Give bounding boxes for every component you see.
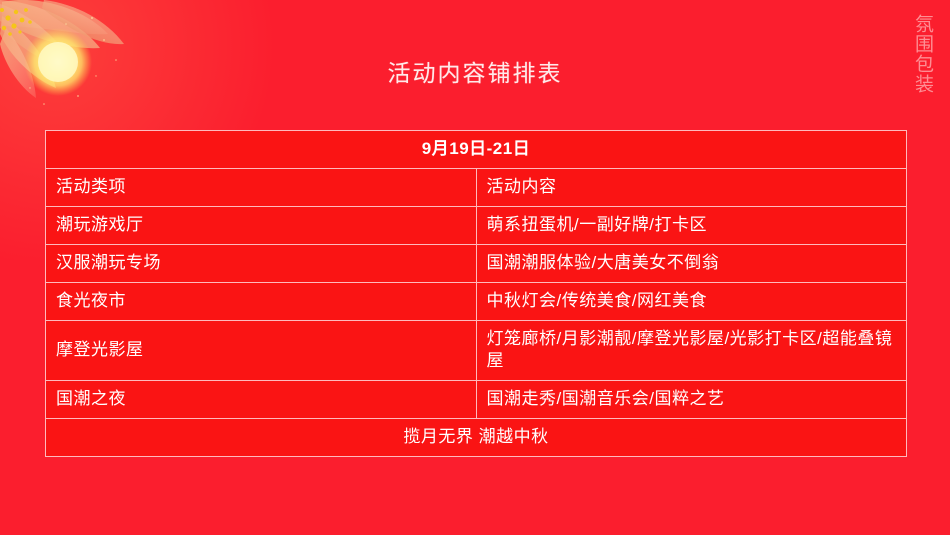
table-row-footer: 揽月无界 潮越中秋 xyxy=(46,419,907,457)
column-header-content: 活动内容 xyxy=(476,169,907,207)
table-row: 摩登光影屋 灯笼廊桥/月影潮靓/摩登光影屋/光影打卡区/超能叠镜屋 xyxy=(46,321,907,381)
side-vertical-label: 氛围包装 xyxy=(906,14,936,94)
schedule-table-container: 9月19日-21日 活动类项 活动内容 潮玩游戏厅 萌系扭蛋机/一副好牌/打卡区… xyxy=(45,130,907,457)
schedule-table: 9月19日-21日 活动类项 活动内容 潮玩游戏厅 萌系扭蛋机/一副好牌/打卡区… xyxy=(45,130,907,457)
row-content: 国潮潮服体验/大唐美女不倒翁 xyxy=(476,245,907,283)
table-row: 国潮之夜 国潮走秀/国潮音乐会/国粹之艺 xyxy=(46,381,907,419)
row-content: 萌系扭蛋机/一副好牌/打卡区 xyxy=(476,207,907,245)
row-category: 潮玩游戏厅 xyxy=(46,207,477,245)
row-category: 食光夜市 xyxy=(46,283,477,321)
table-row: 食光夜市 中秋灯会/传统美食/网红美食 xyxy=(46,283,907,321)
stamen-cluster xyxy=(0,8,32,36)
table-row: 汉服潮玩专场 国潮潮服体验/大唐美女不倒翁 xyxy=(46,245,907,283)
page-title: 活动内容铺排表 xyxy=(0,58,950,88)
table-footer-slogan: 揽月无界 潮越中秋 xyxy=(46,419,907,457)
row-category: 汉服潮玩专场 xyxy=(46,245,477,283)
slide-canvas: 活动内容铺排表 氛围包装 9月19日-21日 活动类项 活动内容 潮玩游戏厅 萌… xyxy=(0,0,950,535)
row-category: 国潮之夜 xyxy=(46,381,477,419)
table-row-column-headers: 活动类项 活动内容 xyxy=(46,169,907,207)
row-content: 国潮走秀/国潮音乐会/国粹之艺 xyxy=(476,381,907,419)
column-header-category: 活动类项 xyxy=(46,169,477,207)
row-category: 摩登光影屋 xyxy=(46,321,477,381)
table-row-date-header: 9月19日-21日 xyxy=(46,131,907,169)
row-content: 灯笼廊桥/月影潮靓/摩登光影屋/光影打卡区/超能叠镜屋 xyxy=(476,321,907,381)
row-content: 中秋灯会/传统美食/网红美食 xyxy=(476,283,907,321)
date-header-cell: 9月19日-21日 xyxy=(46,131,907,169)
table-row: 潮玩游戏厅 萌系扭蛋机/一副好牌/打卡区 xyxy=(46,207,907,245)
